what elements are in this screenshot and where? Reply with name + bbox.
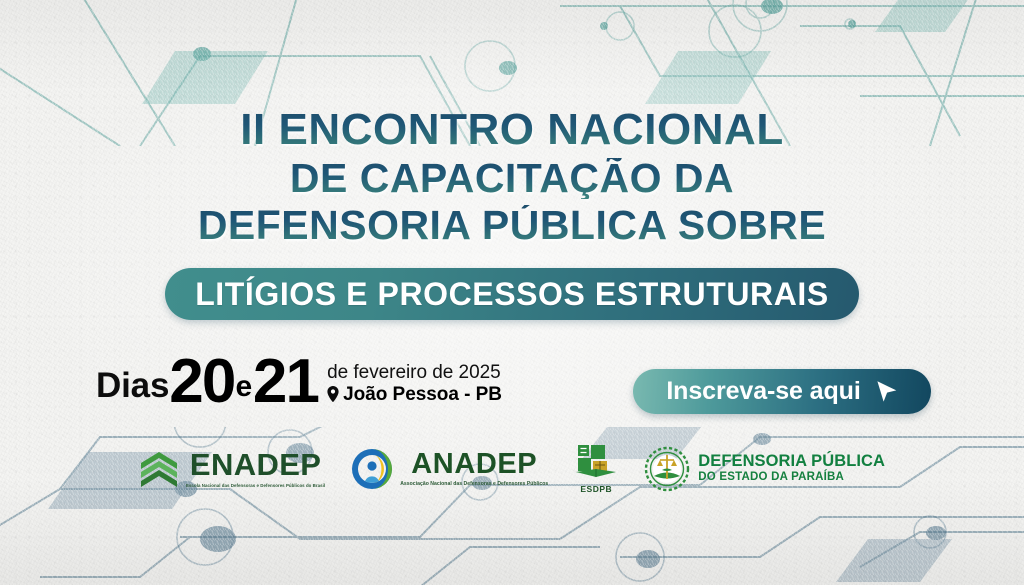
event-date-block: Dias 20 e 21 de fevereiro de 2025 João P… — [96, 355, 502, 408]
chevron-stack-icon — [139, 450, 179, 488]
date-prefix-label: Dias — [96, 366, 169, 408]
logo-enadep-tagline: Escola Nacional das Defensoras e Defenso… — [186, 483, 325, 488]
logo-defensoria-publica-pb: DEFENSORIA PÚBLICA DO ESTADO DA PARAÍBA — [644, 446, 885, 492]
headline-block: II ENCONTRO NACIONAL DE CAPACITAÇÃO DA D… — [0, 108, 1024, 246]
logo-dpe-subtitle: DO ESTADO DA PARAÍBA — [698, 471, 885, 484]
date-conjunction: e — [234, 370, 252, 408]
logo-anadep: ANADEP Associação Nacional das Defensora… — [351, 448, 548, 490]
cursor-arrow-icon — [874, 379, 898, 405]
event-banner: II ENCONTRO NACIONAL DE CAPACITAÇÃO DA D… — [0, 0, 1024, 585]
date-meta: de fevereiro de 2025 João Pessoa - PB — [327, 362, 502, 408]
register-button[interactable]: Inscreva-se aqui — [633, 369, 931, 414]
logo-anadep-name: ANADEP — [411, 450, 537, 479]
headline-line-2: DE CAPACITAÇÃO DA — [0, 158, 1024, 199]
logo-anadep-tagline: Associação Nacional das Defensoras e Def… — [400, 481, 548, 487]
event-location-label: João Pessoa - PB — [343, 384, 502, 406]
headline-line-1: II ENCONTRO NACIONAL — [0, 108, 1024, 152]
headline-line-3: DEFENSORIA PÚBLICA SOBRE — [0, 205, 1024, 246]
logo-enadep: ENADEP Escola Nacional das Defensoras e … — [139, 449, 325, 488]
date-month-year: de fevereiro de 2025 — [327, 362, 502, 384]
event-location: João Pessoa - PB — [327, 384, 502, 406]
logo-enadep-name: ENADEP — [190, 449, 321, 480]
sponsor-logos: ENADEP Escola Nacional das Defensoras e … — [0, 443, 1024, 494]
highlight-pill-wrapper: LITÍGIOS E PROCESSOS ESTRUTURAIS — [0, 268, 1024, 320]
date-day-second: 21 — [253, 355, 318, 408]
circle-figure-icon — [351, 448, 393, 490]
highlight-pill: LITÍGIOS E PROCESSOS ESTRUTURAIS — [165, 268, 859, 320]
highlight-pill-label: LITÍGIOS E PROCESSOS ESTRUTURAIS — [195, 276, 829, 313]
date-day-first: 20 — [169, 355, 234, 408]
book-scales-icon — [574, 443, 618, 483]
logo-esdpb-name: ESDPB — [580, 484, 612, 494]
map-pin-icon — [327, 386, 339, 402]
register-button-label: Inscreva-se aqui — [666, 377, 860, 406]
logo-dpe-name: DEFENSORIA PÚBLICA — [698, 453, 885, 470]
laurel-crest-icon — [644, 446, 690, 492]
logo-esdpb: ESDPB — [574, 443, 618, 494]
